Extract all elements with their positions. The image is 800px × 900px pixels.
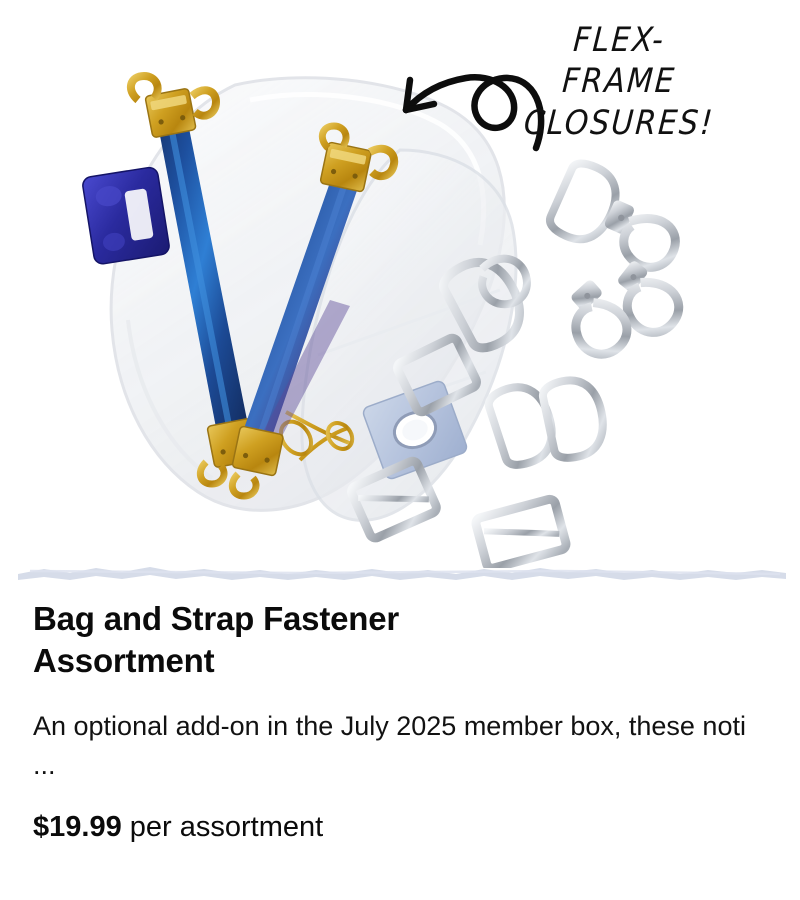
product-card[interactable]: FLEX- FRAME CLOSURES! Bag and Strap Fast…: [0, 0, 800, 900]
product-title: Bag and Strap Fastener Assortment: [33, 598, 503, 682]
blue-plastic-clip-shape: [82, 166, 171, 265]
product-price-unit: per assortment: [130, 811, 323, 843]
section-divider: [0, 560, 800, 584]
product-price-line: $19.99 per assortment: [33, 809, 773, 847]
product-info: Bag and Strap Fastener Assortment An opt…: [33, 598, 773, 847]
product-price: $19.99: [33, 811, 122, 843]
product-description: An optional add-on in the July 2025 memb…: [33, 707, 771, 784]
product-image[interactable]: FLEX- FRAME CLOSURES!: [0, 0, 800, 568]
curly-arrow-icon: [384, 52, 554, 152]
brush-stroke-divider-icon: [0, 560, 800, 584]
